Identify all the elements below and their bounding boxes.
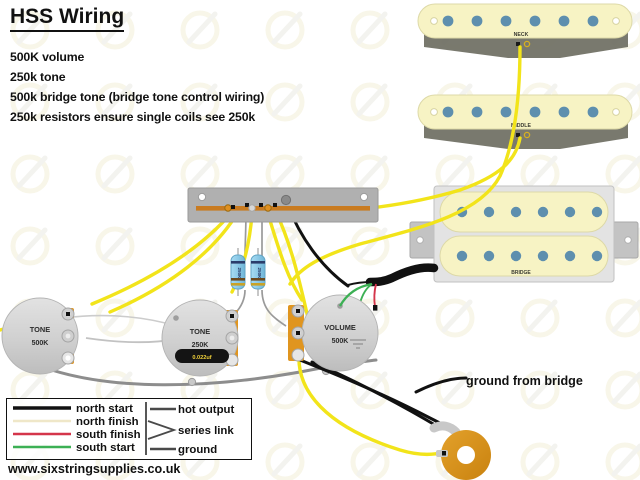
tone-capacitor-label: 0.022uf xyxy=(192,355,211,361)
legend-coil-rows: north start north finish south finish so… xyxy=(13,403,141,454)
spec-item-0: 500K volume xyxy=(10,48,264,68)
legend-function-rows: hot output series link ground xyxy=(148,404,234,456)
legend-coil-label-3: south start xyxy=(76,442,135,454)
pot-tone-500k-value: 500K xyxy=(32,340,49,347)
resistor-1-label: 250K xyxy=(237,268,242,280)
tone-capacitor: 0.022uf xyxy=(175,349,229,363)
legend-function-label-2: ground xyxy=(178,444,217,456)
legend-coil-label-2: south finish xyxy=(76,429,141,441)
pot-tone-250k-name: TONE xyxy=(190,327,210,336)
spec-item-1: 250k tone xyxy=(10,68,264,88)
legend-coil-label-1: north finish xyxy=(76,416,139,428)
pickup-bridge-label: BRIDGE xyxy=(511,270,531,276)
ground-from-bridge-label: ground from bridge xyxy=(466,374,583,388)
pot-tone-500k-lugs xyxy=(62,308,74,364)
pot-tone-500k[interactable]: TONE 500K xyxy=(2,298,78,374)
legend: north start north finish south finish so… xyxy=(6,398,252,460)
wiring-diagram-canvas: NECK MIDDLE xyxy=(0,0,640,480)
pickup-middle: MIDDLE xyxy=(418,95,632,149)
legend-function-label-0: hot output xyxy=(178,404,234,416)
pot-volume-500k-value: 500K xyxy=(332,338,349,345)
pot-tone-500k-name: TONE xyxy=(30,325,50,334)
pot-tone-250k-value: 250K xyxy=(192,342,209,349)
pickup-selector-switch[interactable] xyxy=(188,188,378,222)
output-jack[interactable] xyxy=(434,426,491,480)
pickup-neck: NECK xyxy=(418,4,632,58)
resistor-2-label: 250K xyxy=(257,268,262,280)
spec-item-3: 250k resistors ensure single coils see 2… xyxy=(10,108,264,128)
legend-function-label-1: series link xyxy=(178,425,234,437)
website-url: www.sixstringsupplies.co.uk xyxy=(8,462,180,476)
page-title: HSS Wiring xyxy=(10,6,124,32)
spec-list: 500K volume 250k tone 500k bridge tone (… xyxy=(10,48,264,128)
spec-item-2: 500k bridge tone (bridge tone control wi… xyxy=(10,88,264,108)
pot-volume-500k-lugs xyxy=(292,305,304,361)
pot-volume-500k-name: VOLUME xyxy=(324,323,356,332)
resistor-2: 250K xyxy=(251,248,265,296)
pickup-neck-label: NECK xyxy=(514,32,529,38)
legend-coil-label-0: north start xyxy=(76,403,133,415)
pickup-bridge: BRIDGE xyxy=(410,186,638,282)
pot-tone-250k[interactable]: TONE 250K 0.022uf xyxy=(162,300,238,376)
